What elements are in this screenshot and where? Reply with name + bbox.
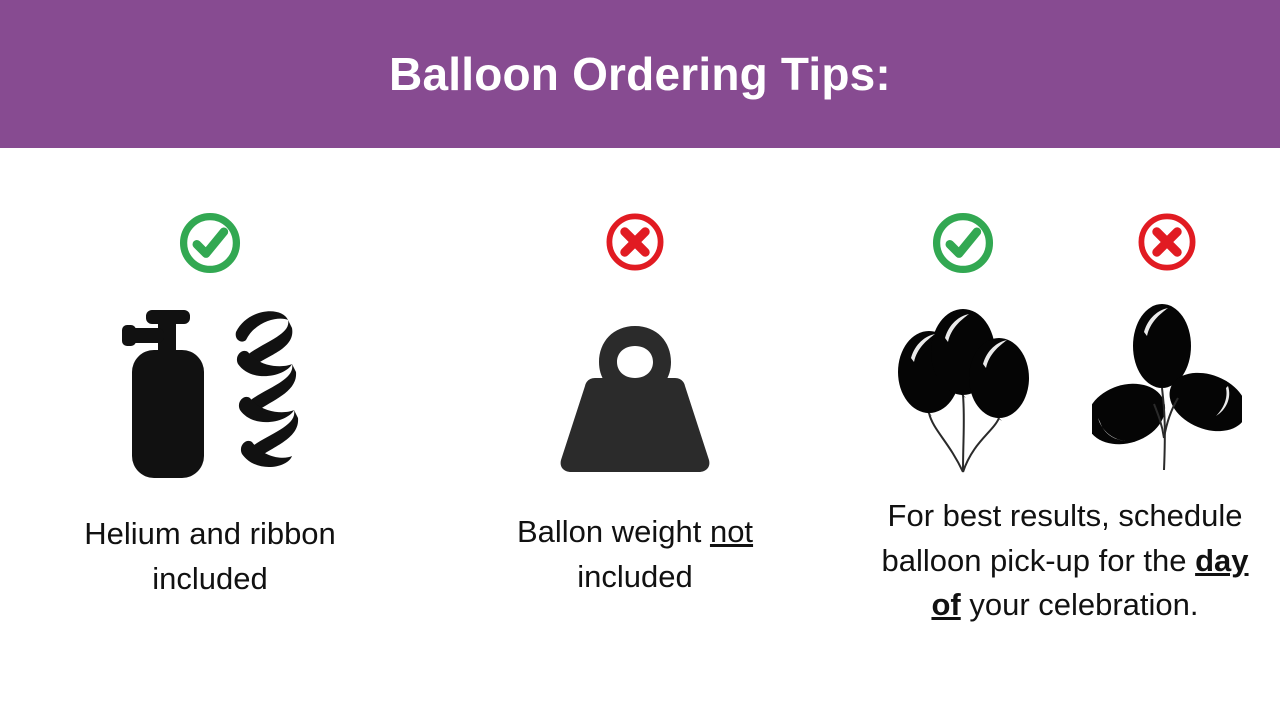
art-row-balloons-floating (893, 300, 1033, 480)
cross-circle-icon (1135, 210, 1199, 274)
curling-ribbon-icon (230, 302, 300, 480)
pickup-good-cell (870, 148, 1056, 480)
badge-row-helium (0, 148, 420, 276)
caption-line-1: Ballon weight (517, 514, 710, 549)
badge-row-weight (420, 148, 850, 274)
caption-pickup-timing: For best results, schedule balloon pick-… (850, 494, 1280, 628)
art-row-weight (420, 298, 850, 478)
caption-line-2: included (577, 559, 692, 594)
caption-balloon-weight: Ballon weight not included (420, 510, 850, 599)
pickup-bad-cell (1074, 148, 1260, 480)
pickup-badge-pair (850, 148, 1280, 480)
header-banner: Balloon Ordering Tips: (0, 0, 1280, 148)
balloon-weight-icon (553, 320, 717, 478)
badge-row-pickup-bad (1135, 148, 1199, 274)
caption-line-2: included (152, 561, 267, 596)
caption-part-2: your celebration. (961, 587, 1199, 622)
check-circle-icon (177, 210, 243, 276)
art-row-balloons-deflated (1092, 298, 1242, 478)
badge-row-pickup-good (930, 148, 996, 276)
slide-root: Balloon Ordering Tips: (0, 0, 1280, 720)
art-row-helium (0, 300, 420, 480)
page-title: Balloon Ordering Tips: (389, 47, 891, 101)
helium-tank-icon (120, 304, 216, 480)
caption-part-1: For best results, schedule balloon pick-… (881, 498, 1242, 578)
balloons-floating-icon (893, 300, 1033, 480)
tip-column-balloon-weight: Ballon weight not included (420, 148, 850, 720)
cross-circle-icon (603, 210, 667, 274)
tip-column-helium-ribbon: Helium and ribbon included (0, 148, 420, 720)
tip-column-pickup-timing: For best results, schedule balloon pick-… (850, 148, 1280, 720)
caption-emphasis-not: not (710, 514, 753, 549)
tips-columns: Helium and ribbon included (0, 148, 1280, 720)
caption-line-1: Helium and ribbon (84, 516, 336, 551)
check-circle-icon (930, 210, 996, 276)
balloons-deflated-icon (1092, 298, 1242, 478)
caption-helium-ribbon: Helium and ribbon included (0, 512, 420, 601)
